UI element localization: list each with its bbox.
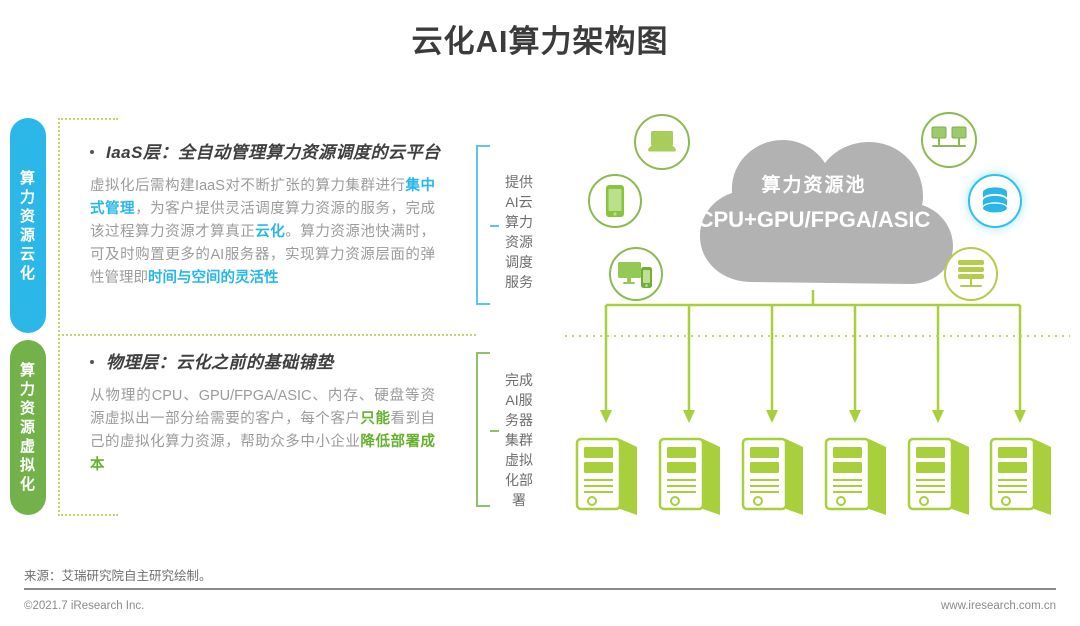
bracket-physical-label: 完成AI服务器集群虚拟化部署 [502, 370, 536, 510]
source-note: 来源：艾瑞研究院自主研究绘制。 [24, 565, 212, 584]
body-text-run: 只能 [360, 411, 390, 427]
database-glyph-icon [979, 185, 1011, 217]
physical-heading: 物理层：云化之前的基础铺垫 [90, 348, 480, 373]
server-tower [909, 439, 969, 515]
diagram-canvas: 云化AI算力架构图 算力资源云化 算力资源虚拟化 IaaS层：全自动管理算力资源… [0, 0, 1080, 626]
iaas-body: 虚拟化后需构建IaaS对不断扩张的算力集群进行集中式管理，为客户提供灵活调度算力… [90, 175, 435, 290]
smartphone-glyph-icon [604, 184, 626, 218]
dashed-frame-divider [58, 334, 476, 336]
bullet-icon [90, 360, 94, 364]
physical-body: 从物理的CPU、GPU/FPGA/ASIC、内存、硬盘等资源虚拟出一部分给需要的… [90, 385, 435, 477]
cloud-title: 算力资源池 [664, 170, 964, 197]
dashed-frame-top [58, 118, 118, 120]
server-tower [743, 439, 803, 515]
dashed-frame-left [58, 118, 60, 516]
dashed-frame-bottom [58, 514, 118, 516]
connection-bus [560, 290, 1070, 440]
server-cluster [575, 432, 1065, 522]
cloud-subtitle: CPU+GPU/FPGA/ASIC [664, 207, 964, 233]
physical-heading-text: 物理层：云化之前的基础铺垫 [106, 348, 334, 373]
database-icon [968, 174, 1022, 228]
server-tower [991, 439, 1051, 515]
pill-cloudification-label: 算力资源云化 [20, 169, 37, 283]
iaas-heading-text: IaaS层：全自动管理算力资源调度的云平台 [106, 138, 440, 163]
network-monitors-glyph-icon [930, 125, 968, 155]
body-text-run: 时间与空间的灵活性 [148, 270, 279, 286]
server-tower [577, 439, 637, 515]
bracket-physical [476, 352, 490, 507]
server-rack-glyph-icon [954, 258, 988, 290]
pill-virtualization-label: 算力资源虚拟化 [20, 361, 37, 494]
smartphone-icon [588, 174, 642, 228]
website-link[interactable]: www.iresearch.com.cn [941, 600, 1056, 612]
iaas-block: IaaS层：全自动管理算力资源调度的云平台 虚拟化后需构建IaaS对不断扩张的算… [90, 138, 480, 290]
footer-divider [24, 588, 1056, 590]
server-tower [826, 439, 886, 515]
bracket-iaas-label: 提供AI云算力资源调度服务 [502, 172, 536, 292]
bullet-icon [90, 150, 94, 154]
body-text-run: 虚拟化后需构建IaaS对不断扩张的算力集群进行 [90, 178, 406, 194]
desktop-phone-glyph-icon [617, 259, 655, 289]
network-monitors-icon [921, 112, 977, 168]
body-text-run: 云化 [255, 224, 285, 240]
bracket-iaas [476, 145, 490, 305]
iaas-heading: IaaS层：全自动管理算力资源调度的云平台 [90, 138, 480, 163]
server-tower [660, 439, 720, 515]
pill-cloudification: 算力资源云化 [10, 118, 46, 333]
copyright-text: ©2021.7 iResearch Inc. [24, 600, 144, 612]
laptop-glyph-icon [645, 127, 679, 157]
laptop-icon [634, 114, 690, 170]
page-title: 云化AI算力架构图 [0, 16, 1080, 61]
compute-resource-pool-cloud: 算力资源池 CPU+GPU/FPGA/ASIC [664, 122, 964, 297]
physical-block: 物理层：云化之前的基础铺垫 从物理的CPU、GPU/FPGA/ASIC、内存、硬… [90, 348, 480, 477]
pill-virtualization: 算力资源虚拟化 [10, 340, 46, 515]
